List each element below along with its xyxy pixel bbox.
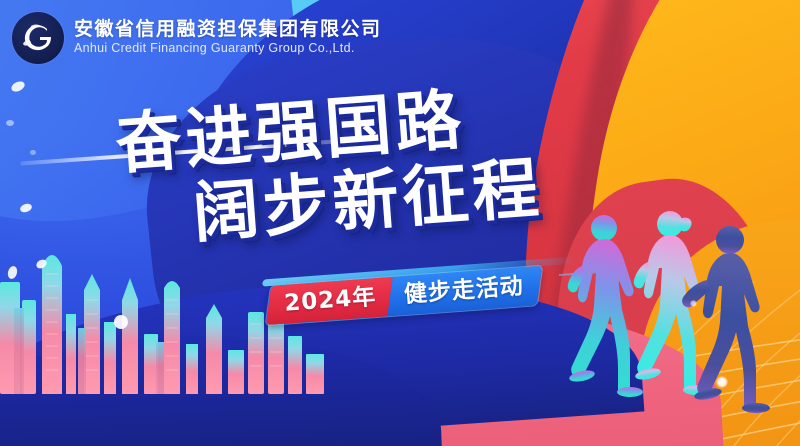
brand-header: 安徽省信用融资担保集团有限公司 Anhui Credit Financing G…	[12, 12, 382, 64]
sparkle-glow	[690, 300, 697, 307]
company-name-en: Anhui Credit Financing Guaranty Group Co…	[74, 42, 382, 55]
subtitle-event-text: 健步走活动	[403, 273, 525, 308]
floating-dot	[30, 150, 36, 155]
company-name-cn: 安徽省信用融资担保集团有限公司	[74, 20, 382, 40]
runner-middle	[634, 211, 709, 395]
headline-block: 奋进强国路 阔步新征程	[113, 81, 544, 253]
floating-dot	[6, 120, 14, 126]
promotional-banner: 安徽省信用融资担保集团有限公司 Anhui Credit Financing G…	[0, 0, 800, 446]
company-logo-icon	[12, 12, 64, 64]
running-figures	[560, 206, 800, 446]
subtitle-year-text: 2024年	[283, 284, 377, 317]
sparkle-glow	[716, 376, 728, 388]
runner-back	[568, 215, 643, 397]
